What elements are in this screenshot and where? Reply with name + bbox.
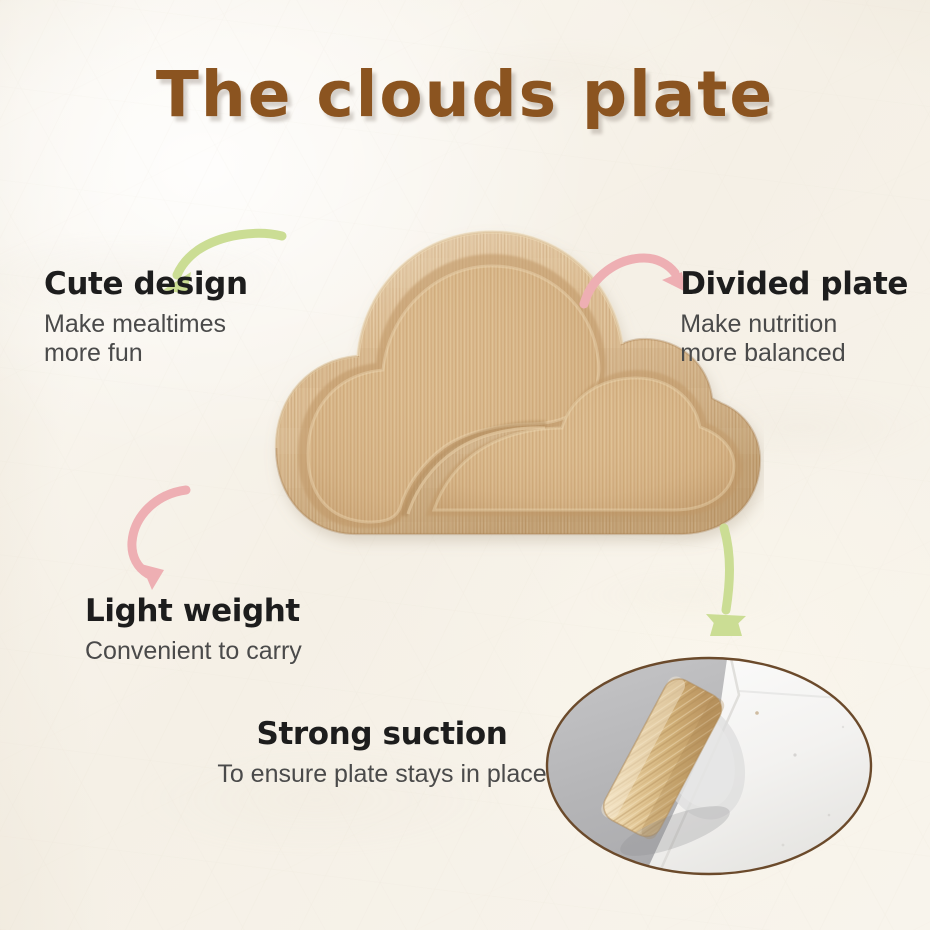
feature-strong-suction: Strong suction To ensure plate stays in …: [172, 718, 592, 789]
feature-subtitle: Make mealtimes more fun: [44, 310, 248, 369]
feature-subtitle: To ensure plate stays in place: [172, 760, 592, 790]
product-infographic: The clouds plate: [0, 0, 930, 930]
feature-subtitle: Convenient to carry: [85, 637, 302, 667]
feature-subtitle: Make nutrition more balanced: [680, 310, 908, 369]
feature-light-weight: Light weight Convenient to carry: [85, 595, 302, 666]
inset-photo-suction-base: [543, 655, 875, 877]
feature-heading: Cute design: [44, 268, 248, 301]
product-image-cloud-plate: [168, 198, 764, 580]
feature-divided-plate: Divided plate Make nutrition more balanc…: [680, 268, 908, 369]
page-title: The clouds plate: [0, 58, 930, 131]
feature-heading: Strong suction: [172, 718, 592, 751]
feature-heading: Divided plate: [680, 268, 908, 301]
feature-cute-design: Cute design Make mealtimes more fun: [44, 268, 248, 369]
plate-front-edge: [276, 498, 760, 538]
feature-heading: Light weight: [85, 595, 302, 628]
